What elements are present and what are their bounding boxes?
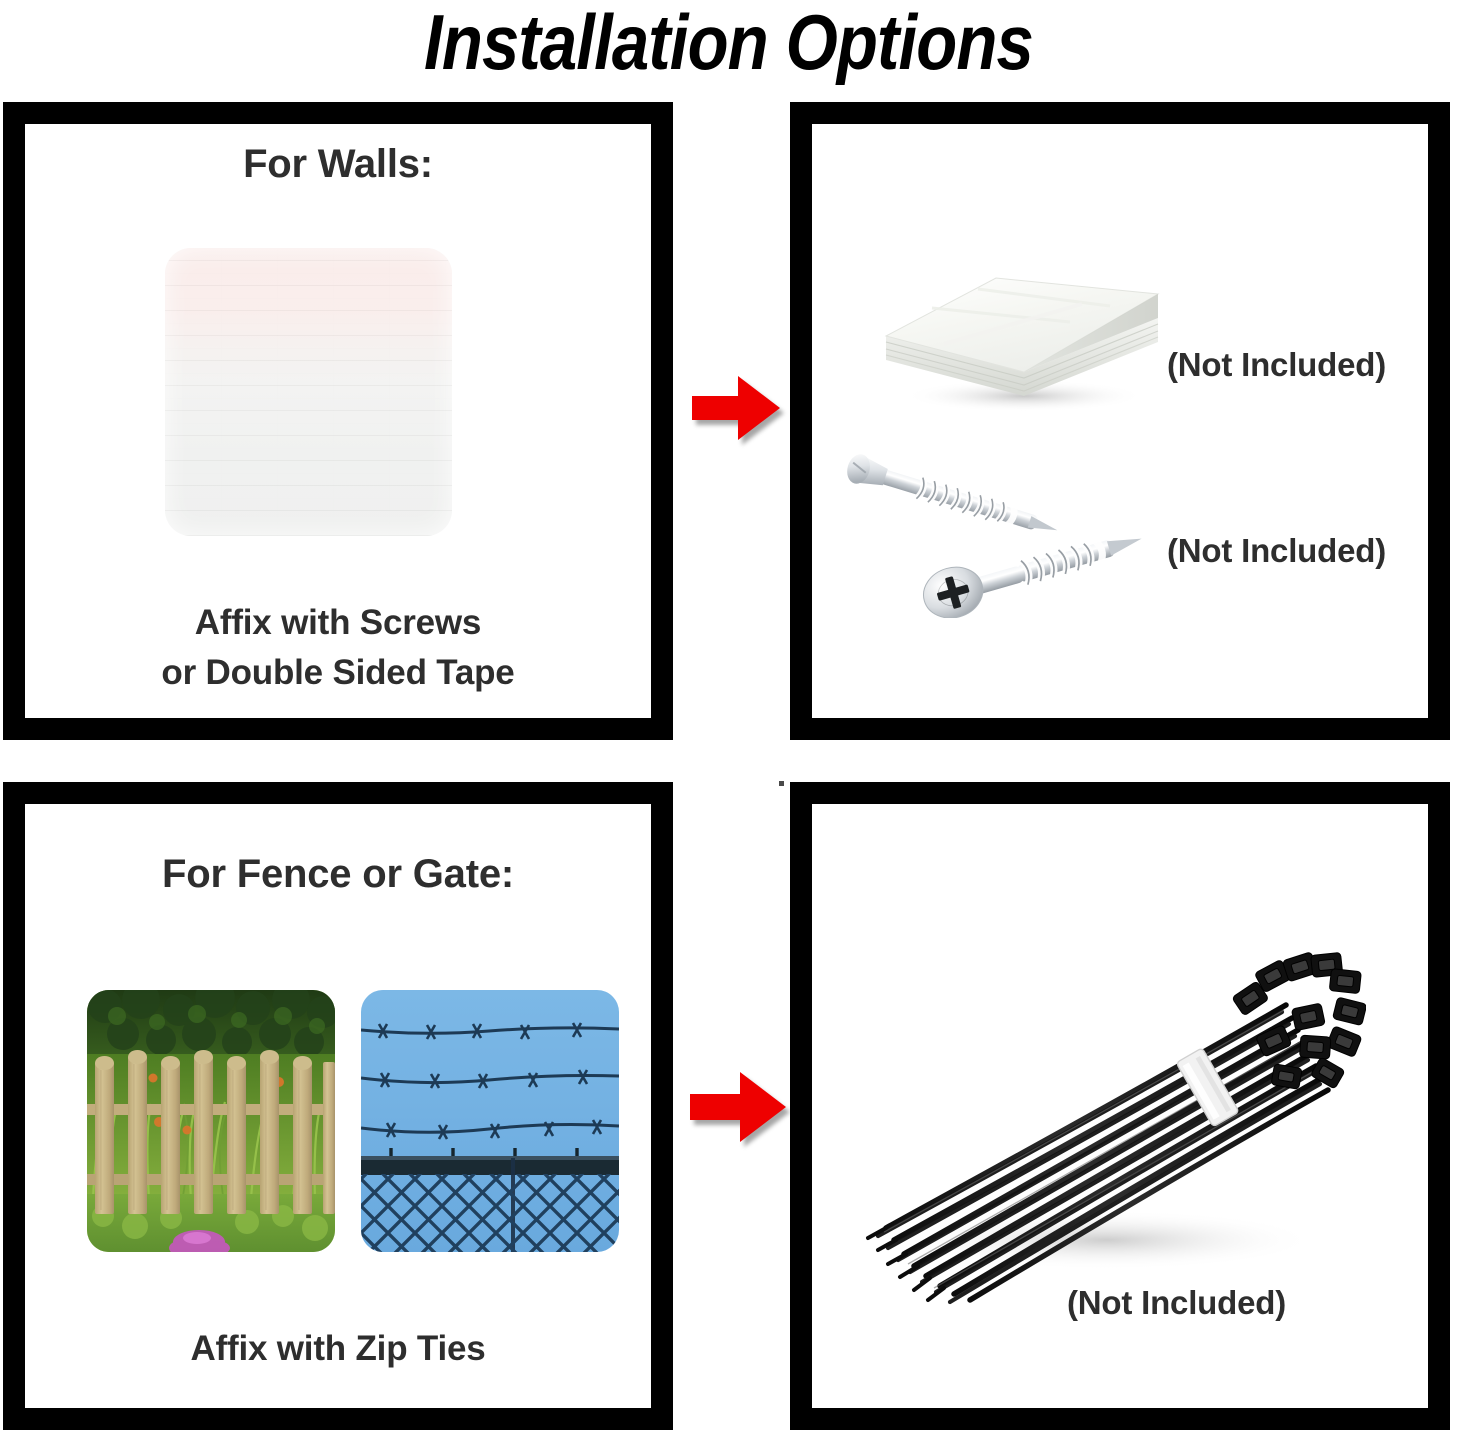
caption-line-2: or Double Sided Tape <box>25 648 651 698</box>
white-brick-wall-photo <box>165 248 452 536</box>
black-zip-tie-bundle-icon <box>856 910 1366 1310</box>
tape-not-included-label: (Not Included) <box>1167 346 1386 384</box>
double-sided-tape-stack-icon <box>874 244 1164 416</box>
red-right-arrow-bottom <box>688 1068 788 1146</box>
panel-for-walls-inner: For Walls: Affix with Screws or Double S… <box>25 124 651 718</box>
page-title: Installation Options <box>102 0 1355 88</box>
panel-caption-for-walls: Affix with Screws or Double Sided Tape <box>25 598 651 698</box>
panel-hardware: (Not Included) <box>790 102 1450 740</box>
caption-line-1: Affix with Screws <box>25 598 651 648</box>
wood-screw-lower-icon <box>912 522 1152 618</box>
wooden-picket-fence-photo <box>87 990 335 1252</box>
panel-for-walls: For Walls: Affix with Screws or Double S… <box>3 102 673 740</box>
image-artifact-speck <box>779 781 784 786</box>
panel-hardware-inner: (Not Included) <box>812 124 1428 718</box>
screws-not-included-label: (Not Included) <box>1167 532 1386 570</box>
zipties-not-included-label: (Not Included) <box>1067 1284 1286 1322</box>
panel-for-fence-or-gate: For Fence or Gate: <box>3 782 673 1430</box>
panel-caption-for-fence: Affix with Zip Ties <box>25 1324 651 1374</box>
panel-for-fence-inner: For Fence or Gate: <box>25 804 651 1408</box>
red-right-arrow-top <box>690 372 782 444</box>
panel-zip-ties: (Not Included) <box>790 782 1450 1430</box>
panel-heading-for-fence: For Fence or Gate: <box>25 852 651 897</box>
panel-zip-ties-inner: (Not Included) <box>812 804 1428 1408</box>
panel-heading-for-walls: For Walls: <box>25 142 651 187</box>
chain-link-barbed-wire-fence-photo <box>361 990 619 1252</box>
